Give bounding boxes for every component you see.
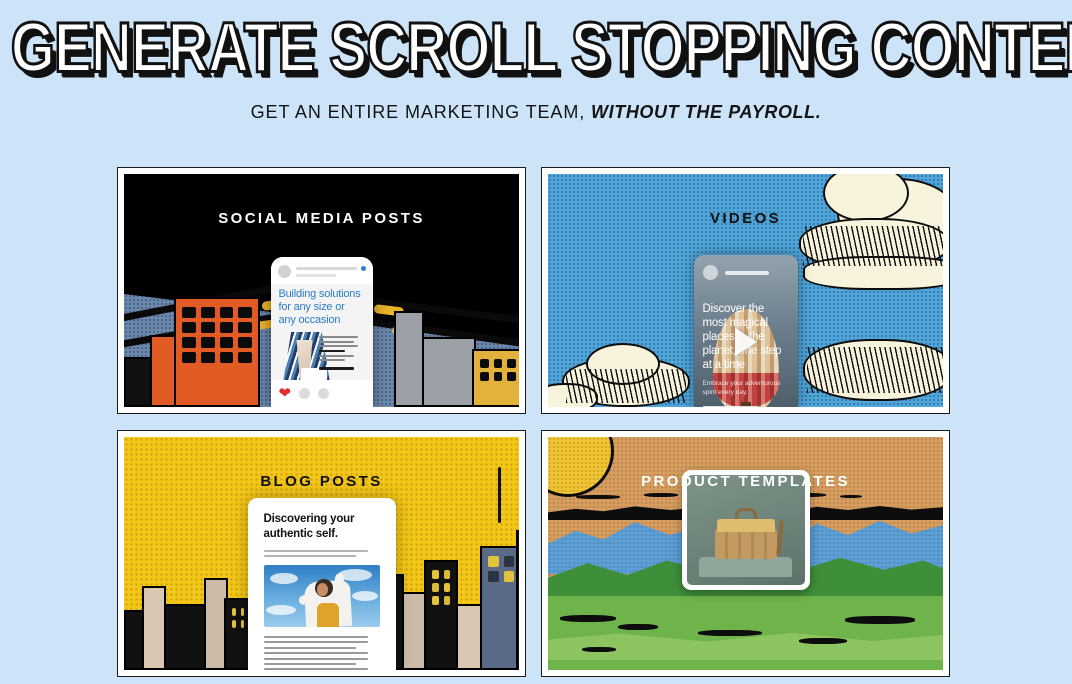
window [432, 583, 439, 592]
blog-intro-text [264, 550, 380, 557]
text-line [319, 341, 354, 343]
text-line [264, 550, 368, 552]
window [182, 322, 196, 333]
window [220, 307, 234, 318]
foliage-scribble [582, 647, 616, 652]
window [444, 570, 451, 579]
person-face [317, 583, 328, 596]
window [182, 307, 196, 318]
blog-body-text [264, 636, 380, 670]
foliage-scribble [560, 615, 616, 622]
foliage-scribble [618, 624, 658, 630]
window [238, 322, 252, 333]
text-line [264, 663, 357, 665]
feature-card-grid: Building solutions for any size or any o… [117, 167, 950, 677]
placeholder-line [296, 274, 337, 277]
handbag-strap [776, 521, 784, 555]
cloud-hatch [807, 347, 943, 393]
circle-icon[interactable] [299, 388, 310, 399]
post-headline: Building solutions for any size or any o… [279, 288, 365, 327]
blog-photo [264, 565, 380, 627]
window [201, 322, 215, 333]
subtitle-emphasis: WITHOUT THE PAYROLL. [591, 102, 821, 122]
window [220, 352, 234, 363]
window [232, 620, 236, 628]
placeholder-line [725, 271, 769, 275]
window [182, 337, 196, 348]
foliage-scribble [799, 638, 847, 644]
cloud-shape [352, 591, 378, 601]
text-line [319, 345, 359, 347]
blog-headline: Discovering your authentic self. [264, 512, 380, 542]
building-shape [472, 349, 519, 407]
blog-article-mockup[interactable]: Discovering your authentic self. [248, 498, 396, 670]
card-blog-posts[interactable]: Discovering your authentic self. [117, 430, 526, 677]
window [488, 571, 499, 582]
window [494, 372, 503, 381]
cloud-hatch [566, 369, 686, 403]
play-icon[interactable] [735, 328, 757, 356]
post-media [279, 332, 365, 386]
bird-scribble [644, 493, 678, 497]
card-artwork-blog: Discovering your authentic self. [124, 437, 519, 670]
window [444, 596, 451, 605]
window [220, 337, 234, 348]
building-shape [174, 297, 260, 407]
card-title-blog: BLOG POSTS [124, 473, 519, 490]
card-social-media-posts[interactable]: Building solutions for any size or any o… [117, 167, 526, 414]
window [507, 372, 516, 381]
window [480, 372, 489, 381]
foliage-scribble [698, 630, 762, 636]
bird-scribble [840, 495, 862, 498]
window-grid [182, 307, 252, 405]
text-line [319, 359, 345, 361]
page-root: GENERATE SCROLL STOPPING CONTENT GET AN … [0, 0, 1072, 684]
building-shape [124, 610, 144, 670]
post-reactions[interactable]: ❤ [271, 380, 373, 407]
circle-icon[interactable] [318, 388, 329, 399]
post-body-text [319, 336, 363, 372]
text-line [264, 668, 368, 670]
window [504, 556, 515, 567]
card-videos[interactable]: Discover the most magical places in the … [541, 167, 950, 414]
building-shape [422, 337, 476, 407]
avatar [703, 265, 718, 280]
text-line [264, 555, 357, 557]
handbag-illustration [715, 519, 777, 559]
building-shape [394, 311, 424, 407]
text-line-bold [319, 350, 345, 353]
video-subtext: Embrace your adventurous spirit every da… [703, 379, 789, 397]
window [241, 620, 245, 628]
building-shape [480, 546, 519, 670]
card-title-product: PRODUCT TEMPLATES [548, 473, 943, 490]
window [201, 307, 215, 318]
pedestal-shape [699, 557, 791, 577]
post-meta [296, 266, 366, 277]
card-title-social: SOCIAL MEDIA POSTS [124, 210, 519, 227]
card-title-videos: VIDEOS [548, 210, 943, 227]
card-artwork-videos: Discover the most magical places in the … [548, 174, 943, 407]
video-story-mockup[interactable]: Discover the most magical places in the … [694, 255, 798, 407]
window [201, 337, 215, 348]
product-photo [687, 475, 805, 585]
building-shape [124, 357, 152, 407]
window [238, 352, 252, 363]
window [201, 352, 215, 363]
card-artwork-product: PRODUCT TEMPLATES [548, 437, 943, 670]
window [444, 583, 451, 592]
heart-icon[interactable]: ❤ [279, 386, 292, 401]
cloud-shape [266, 605, 296, 615]
window [488, 556, 499, 567]
person-shirt [317, 603, 339, 627]
building-shape [150, 335, 176, 407]
building-shape [424, 560, 458, 670]
page-title: GENERATE SCROLL STOPPING CONTENT [11, 8, 1062, 89]
window [507, 359, 516, 368]
window-grid [432, 570, 450, 668]
text-line-bold [319, 367, 354, 370]
text-line [264, 658, 368, 660]
bird-scribble [576, 495, 620, 499]
window [238, 337, 252, 348]
handbag-body [715, 529, 777, 559]
window [480, 359, 489, 368]
placeholder-line [296, 267, 357, 270]
window [182, 352, 196, 363]
text-line [264, 636, 368, 638]
text-line [264, 652, 368, 654]
handbag-flap [717, 519, 775, 532]
avatar [278, 265, 291, 278]
badge-dot-icon [361, 266, 366, 271]
post-header [271, 257, 373, 284]
window [494, 359, 503, 368]
window [504, 571, 515, 582]
cloud-shape [270, 573, 298, 584]
story-header [694, 255, 798, 290]
hero-section: GENERATE SCROLL STOPPING CONTENT GET AN … [0, 0, 1072, 123]
window-grid [232, 608, 244, 668]
card-product-templates[interactable]: PRODUCT TEMPLATES [541, 430, 950, 677]
window [232, 608, 236, 616]
subtitle-regular: GET AN ENTIRE MARKETING TEAM, [251, 102, 585, 122]
text-line [264, 647, 357, 649]
foliage-scribble [845, 616, 915, 624]
text-line [264, 641, 368, 643]
window [238, 307, 252, 318]
window [432, 570, 439, 579]
window [220, 322, 234, 333]
page-subtitle: GET AN ENTIRE MARKETING TEAM, WITHOUT TH… [0, 102, 1072, 123]
window-grid [480, 359, 516, 405]
window [241, 608, 245, 616]
post-body: Building solutions for any size or any o… [271, 284, 373, 386]
window [432, 596, 439, 605]
card-artwork-social: Building solutions for any size or any o… [124, 174, 519, 407]
building-shape [516, 530, 519, 670]
building-shape [142, 586, 166, 670]
text-line [319, 355, 354, 357]
text-line [319, 336, 359, 338]
book-now-button[interactable]: BOOK NOW [703, 406, 758, 407]
window-grid [488, 556, 514, 668]
building-shape [164, 604, 206, 670]
social-post-mockup[interactable]: Building solutions for any size or any o… [271, 257, 373, 407]
cloud-hatch [803, 226, 943, 266]
post-meta-row [296, 266, 366, 271]
